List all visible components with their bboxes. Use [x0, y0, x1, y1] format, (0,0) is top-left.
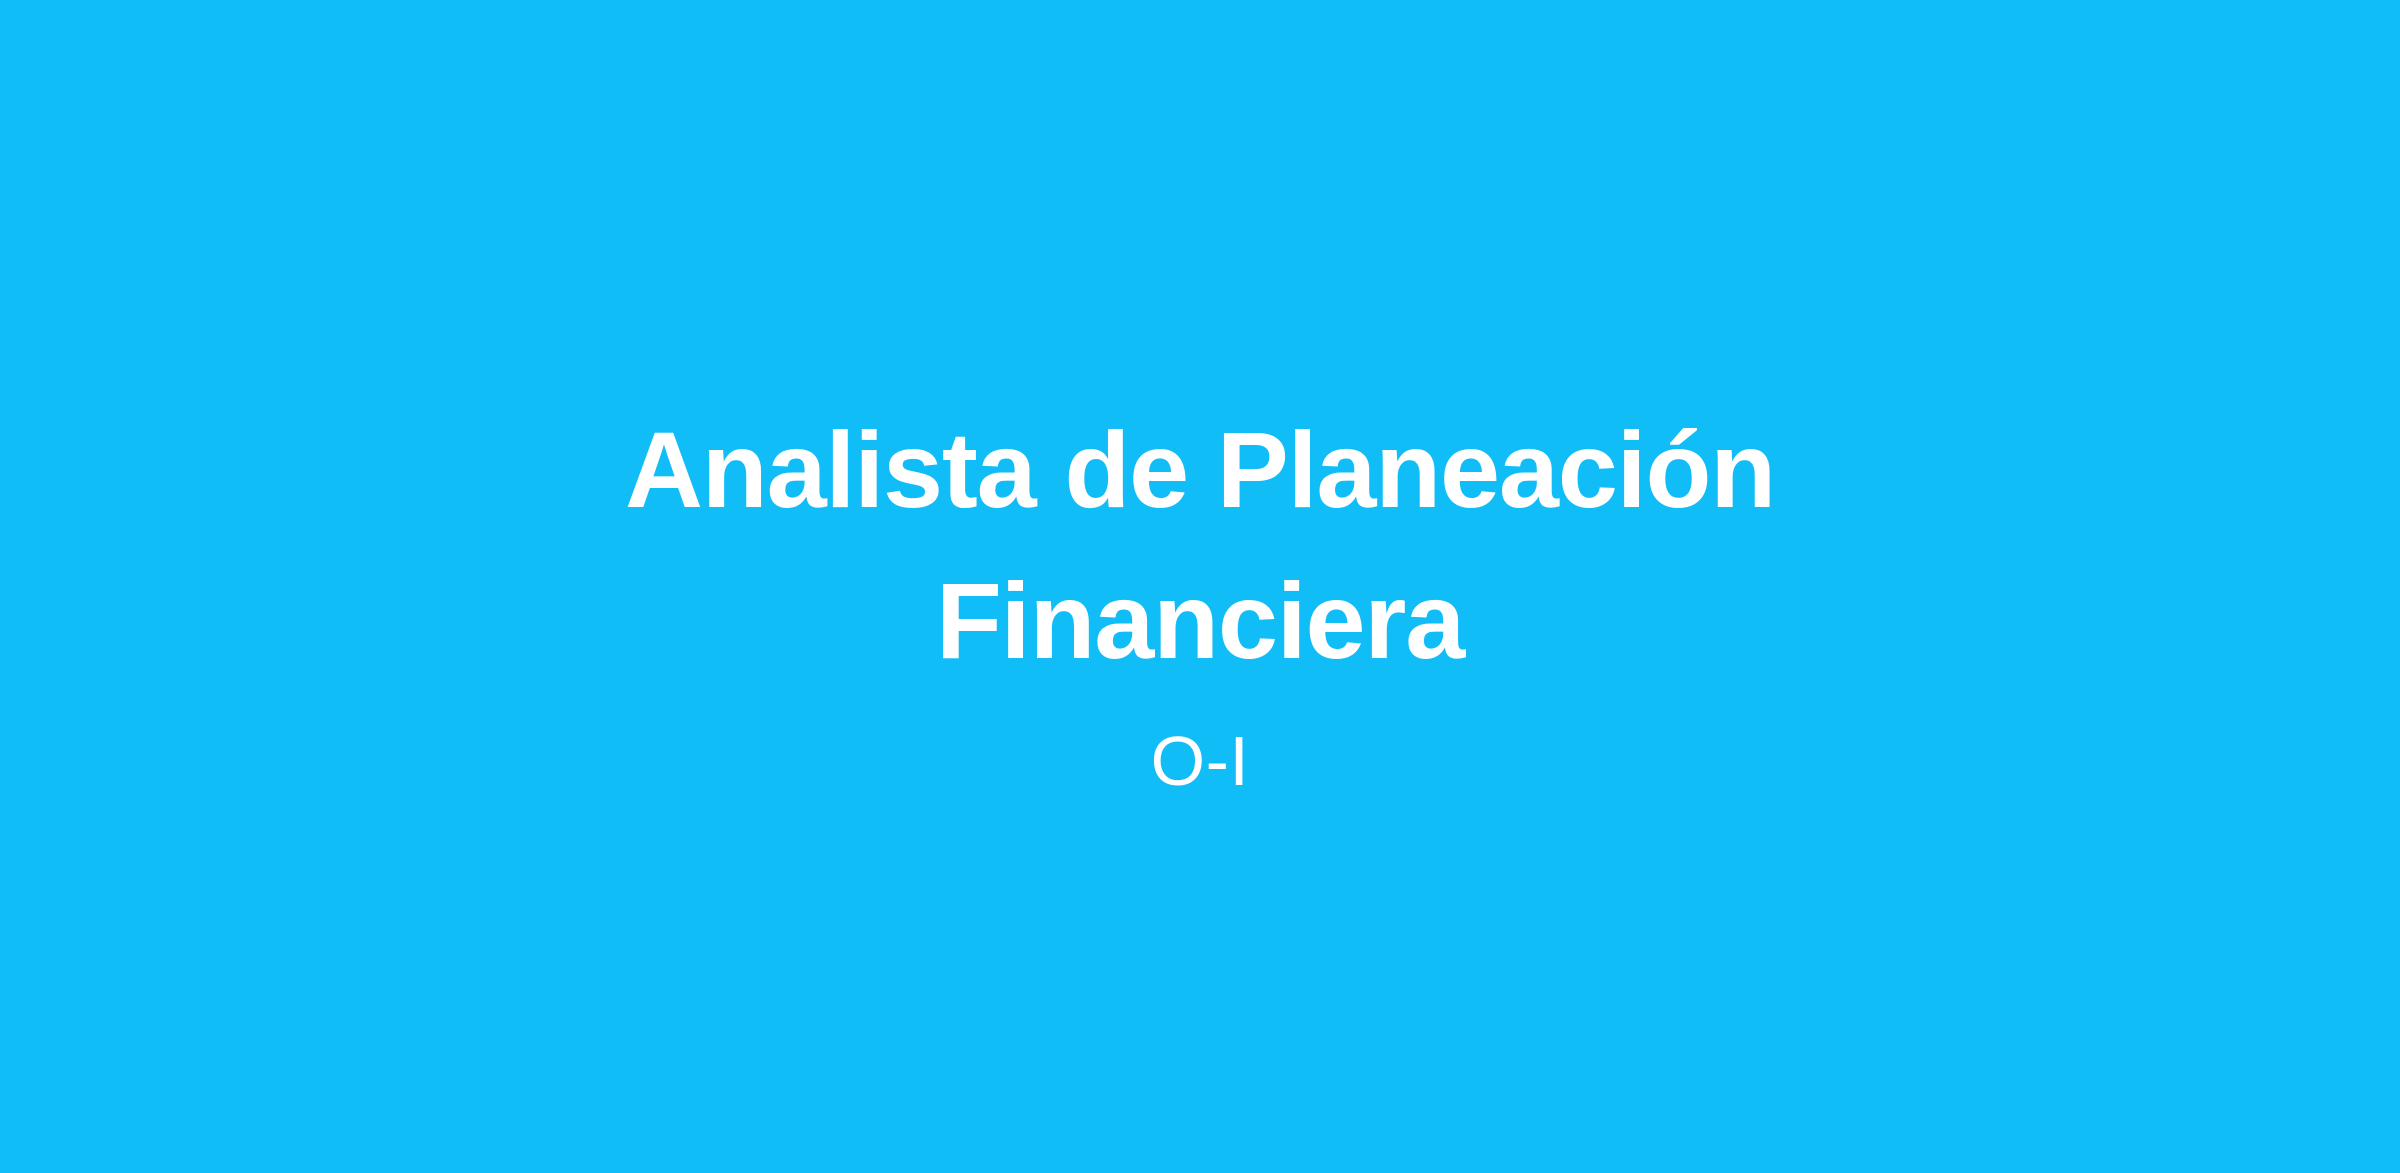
card-content: Analista de Planeación Financiera O-I: [350, 394, 2050, 802]
page-title: Analista de Planeación Financiera: [580, 394, 1820, 696]
company-name: O-I: [1151, 720, 1250, 802]
job-posting-card[interactable]: Analista de Planeación Financiera O-I: [0, 0, 2400, 1173]
